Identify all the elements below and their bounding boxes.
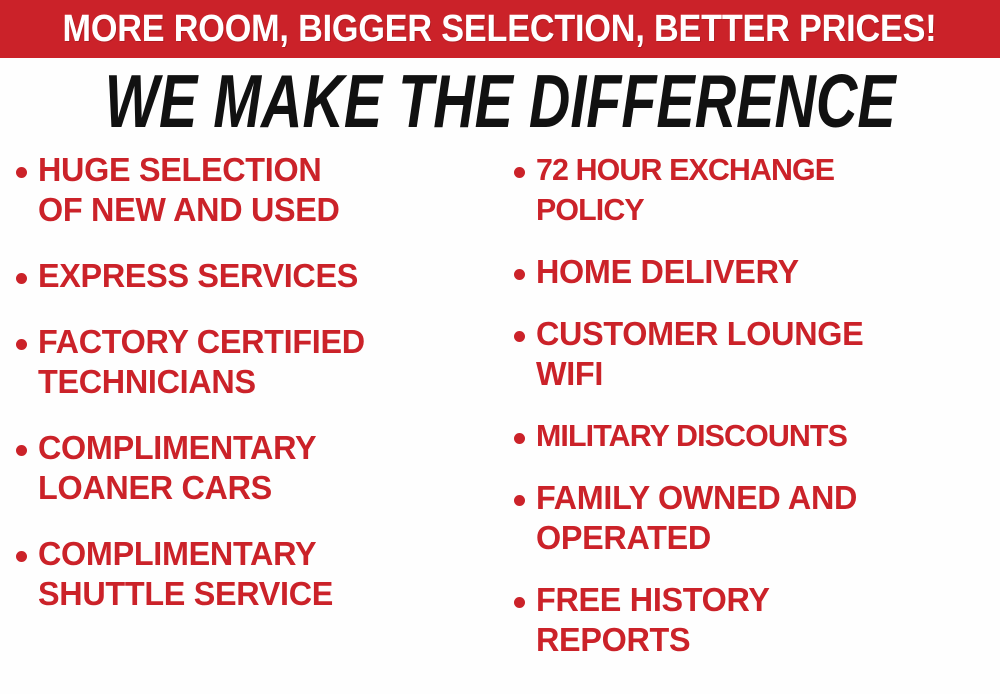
bullet-dot-icon	[514, 269, 525, 280]
list-item: COMPLIMENTARY LOANER CARS	[16, 428, 496, 508]
bullet-dot-icon	[16, 339, 27, 350]
bullet-dot-icon	[16, 551, 27, 562]
bullet-dot-icon	[514, 167, 525, 178]
list-item-label: FREE HISTORY REPORTS	[536, 580, 770, 660]
list-item-label: HOME DELIVERY	[536, 252, 799, 292]
bullet-dot-icon	[514, 433, 525, 444]
list-item: FACTORY CERTIFIED TECHNICIANS	[16, 322, 496, 402]
benefits-column-left: HUGE SELECTION OF NEW AND USED EXPRESS S…	[0, 150, 500, 694]
bullet-dot-icon	[514, 495, 525, 506]
list-item: MILITARY DISCOUNTS	[514, 416, 998, 456]
list-item-label: FACTORY CERTIFIED TECHNICIANS	[38, 322, 365, 402]
list-item-label: EXPRESS SERVICES	[38, 256, 358, 296]
bullet-dot-icon	[514, 331, 525, 342]
bullet-dot-icon	[16, 445, 27, 456]
headline-area: WE MAKE THE DIFFERENCE	[0, 62, 1000, 140]
list-item-label: COMPLIMENTARY LOANER CARS	[38, 428, 316, 508]
list-item-label: CUSTOMER LOUNGE WIFI	[536, 314, 863, 394]
page-title: WE MAKE THE DIFFERENCE	[105, 63, 896, 139]
bullet-dot-icon	[16, 273, 27, 284]
benefits-column-right: 72 HOUR EXCHANGE POLICY HOME DELIVERY CU…	[500, 150, 1000, 694]
promo-poster: MORE ROOM, BIGGER SELECTION, BETTER PRIC…	[0, 0, 1000, 694]
list-item: HUGE SELECTION OF NEW AND USED	[16, 150, 496, 230]
top-banner: MORE ROOM, BIGGER SELECTION, BETTER PRIC…	[0, 0, 1000, 58]
list-item: HOME DELIVERY	[514, 252, 998, 292]
list-item-label: 72 HOUR EXCHANGE POLICY	[536, 150, 834, 230]
list-item: FAMILY OWNED AND OPERATED	[514, 478, 998, 558]
list-item-label: COMPLIMENTARY SHUTTLE SERVICE	[38, 534, 333, 614]
list-item: CUSTOMER LOUNGE WIFI	[514, 314, 998, 394]
list-item: 72 HOUR EXCHANGE POLICY	[514, 150, 998, 230]
list-item: FREE HISTORY REPORTS	[514, 580, 998, 660]
benefits-columns: HUGE SELECTION OF NEW AND USED EXPRESS S…	[0, 150, 1000, 694]
bullet-dot-icon	[16, 167, 27, 178]
list-item: COMPLIMENTARY SHUTTLE SERVICE	[16, 534, 496, 614]
banner-headline-text: MORE ROOM, BIGGER SELECTION, BETTER PRIC…	[63, 10, 937, 48]
bullet-dot-icon	[514, 597, 525, 608]
list-item: EXPRESS SERVICES	[16, 256, 496, 296]
list-item-label: HUGE SELECTION OF NEW AND USED	[38, 150, 340, 230]
list-item-label: MILITARY DISCOUNTS	[536, 416, 847, 456]
list-item-label: FAMILY OWNED AND OPERATED	[536, 478, 857, 558]
